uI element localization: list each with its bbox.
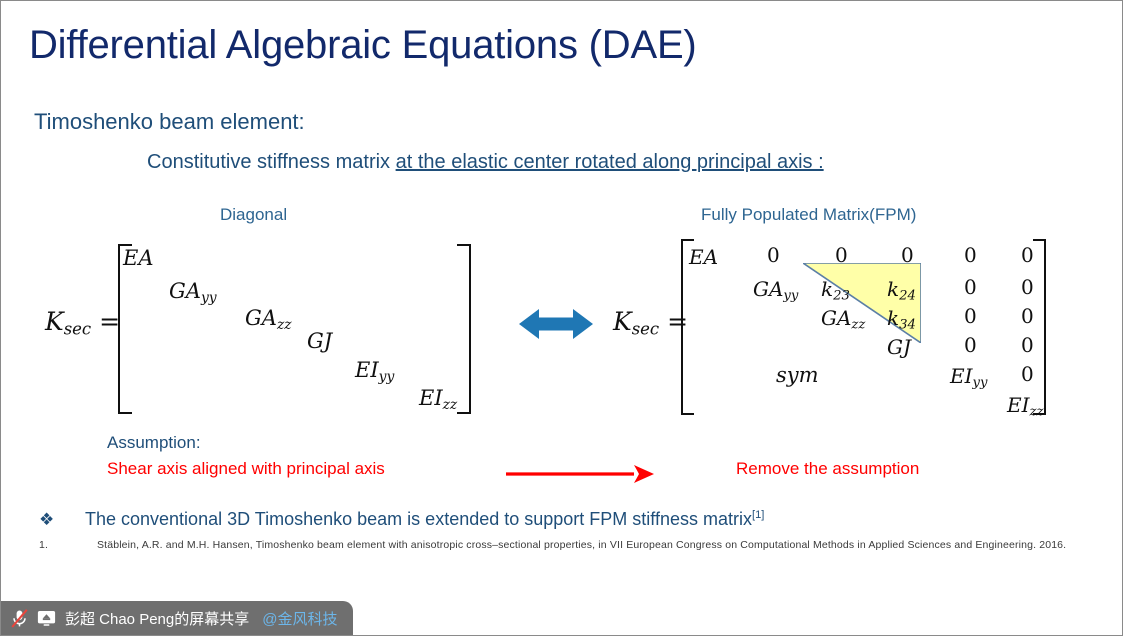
- fpm-cell-zero: 0: [1021, 304, 1034, 328]
- entry-base: GA: [169, 279, 201, 303]
- cell-base: 0: [835, 243, 848, 267]
- cell-subscript: yy: [973, 376, 988, 391]
- remove-assumption-text: Remove the assumption: [736, 459, 919, 479]
- cell-base: 0: [964, 275, 977, 299]
- left-matrix-entry: GJ: [307, 329, 332, 353]
- right-arrow-icon: [506, 463, 654, 485]
- fpm-cell-diag: GAyy: [753, 277, 798, 304]
- fpm-cell-zero: 0: [835, 243, 848, 267]
- presenter-organization: @金风科技: [262, 608, 337, 629]
- fpm-cell-coupling: k24: [887, 277, 916, 304]
- fpm-cell-zero: 0: [1021, 275, 1034, 299]
- entry-subscript: zz: [277, 317, 292, 333]
- cell-base: 0: [767, 243, 780, 267]
- fpm-sym-label: sym: [776, 363, 819, 387]
- screen-share-status-bar: 彭超 Chao Peng的屏幕共享 @金风科技: [1, 601, 353, 635]
- entry-base: EA: [123, 246, 154, 270]
- cell-subscript: zz: [1030, 405, 1044, 420]
- cell-base: 0: [1021, 333, 1034, 357]
- cell-base: EI: [1007, 393, 1030, 417]
- entry-base: GA: [245, 306, 277, 330]
- cell-subscript: zz: [851, 318, 865, 333]
- subtitle-constitutive: Constitutive stiffness matrix at the ela…: [147, 151, 824, 174]
- right-matrix-label: Ksec =: [613, 307, 688, 339]
- fpm-cell-diag: EIzz: [1007, 393, 1043, 420]
- fpm-cell-diag: GJ: [887, 335, 911, 359]
- page-title: Differential Algebraic Equations (DAE): [29, 23, 697, 68]
- cell-base: GA: [821, 306, 851, 330]
- heading-fpm-matrix: Fully Populated Matrix(FPM): [701, 205, 916, 225]
- cell-base: k: [887, 277, 899, 301]
- assumption-text: Shear axis aligned with principal axis: [107, 459, 385, 479]
- fpm-cell-diag: EA: [689, 245, 718, 269]
- cell-subscript: 24: [899, 289, 916, 304]
- left-k-symbol: K: [45, 307, 64, 336]
- reference-index: 1.: [39, 537, 97, 553]
- left-k-subscript: sec: [64, 320, 91, 339]
- fpm-cell-zero: 0: [901, 243, 914, 267]
- cell-subscript: yy: [783, 289, 798, 304]
- cell-base: GA: [753, 277, 783, 301]
- fpm-cell-zero: 0: [964, 275, 977, 299]
- fpm-cell-diag: EIyy: [950, 364, 987, 391]
- subtitle-timoshenko: Timoshenko beam element:: [34, 109, 305, 135]
- subtitle-underlined-part: at the elastic center rotated along prin…: [396, 151, 824, 173]
- cell-base: 0: [901, 243, 914, 267]
- diamond-bullet-icon: ❖: [39, 510, 85, 530]
- left-equals-sign: =: [99, 307, 120, 336]
- presenter-name: 彭超 Chao Peng的屏幕共享: [65, 608, 249, 629]
- left-matrix-entry: GAyy: [169, 279, 217, 306]
- left-matrix-bracket-close: [457, 244, 471, 414]
- fpm-cell-diag: GAzz: [821, 306, 865, 333]
- cell-base: k: [821, 277, 833, 301]
- cell-subscript: 23: [833, 289, 850, 304]
- heading-diagonal-matrix: Diagonal: [220, 205, 287, 225]
- screen-share-icon[interactable]: [37, 610, 56, 627]
- subtitle-plain-part: Constitutive stiffness matrix: [147, 151, 396, 173]
- entry-base: EI: [355, 358, 379, 382]
- bullet-main-text: The conventional 3D Timoshenko beam is e…: [85, 509, 752, 529]
- left-matrix-entry: EIzz: [419, 386, 457, 413]
- entry-subscript: yy: [379, 369, 395, 385]
- cell-base: k: [887, 306, 899, 330]
- left-matrix-entry: EIyy: [355, 358, 394, 385]
- left-matrix-label: Ksec =: [45, 307, 120, 339]
- cell-base: GJ: [887, 335, 911, 359]
- reference-citation: 1.Stäblein, A.R. and M.H. Hansen, Timosh…: [39, 537, 1105, 553]
- bullet-text: The conventional 3D Timoshenko beam is e…: [85, 509, 764, 530]
- cell-base: 0: [964, 243, 977, 267]
- fpm-matrix-grid: EA00000GAyyk23k2400GAzzk3400GJ00EIyy0EIz…: [687, 241, 1037, 415]
- fpm-cell-zero: 0: [964, 243, 977, 267]
- cell-base: EI: [950, 364, 973, 388]
- cell-base: 0: [1021, 243, 1034, 267]
- entry-base: EI: [419, 386, 443, 410]
- right-k-symbol: K: [613, 307, 632, 336]
- right-k-subscript: sec: [632, 320, 659, 339]
- fpm-cell-zero: 0: [964, 333, 977, 357]
- entry-subscript: zz: [443, 397, 458, 413]
- cell-subscript: 34: [899, 318, 916, 333]
- cell-base: 0: [1021, 275, 1034, 299]
- fpm-cell-zero: 0: [1021, 243, 1034, 267]
- cell-base: 0: [1021, 362, 1034, 386]
- fpm-cell-coupling: k23: [821, 277, 850, 304]
- reference-text: Stäblein, A.R. and M.H. Hansen, Timoshen…: [97, 539, 1066, 551]
- entry-base: GJ: [307, 329, 332, 353]
- entry-subscript: yy: [201, 290, 217, 306]
- bullet-superscript: [1]: [752, 509, 764, 521]
- assumption-label: Assumption:: [107, 433, 201, 453]
- cell-base: 0: [1021, 304, 1034, 328]
- cell-base: 0: [964, 333, 977, 357]
- slide-canvas: Differential Algebraic Equations (DAE) T…: [0, 0, 1123, 636]
- fpm-cell-zero: 0: [767, 243, 780, 267]
- left-matrix-entry: GAzz: [245, 306, 292, 333]
- fpm-cell-zero: 0: [964, 304, 977, 328]
- cell-base: 0: [964, 304, 977, 328]
- double-arrow-icon: [519, 305, 593, 343]
- fpm-cell-zero: 0: [1021, 362, 1034, 386]
- fpm-cell-coupling: k34: [887, 306, 916, 333]
- cell-base: EA: [689, 245, 718, 269]
- bullet-row: ❖ The conventional 3D Timoshenko beam is…: [39, 509, 1099, 530]
- left-matrix-entry: EA: [123, 246, 154, 270]
- microphone-muted-icon[interactable]: [11, 609, 28, 628]
- fpm-cell-zero: 0: [1021, 333, 1034, 357]
